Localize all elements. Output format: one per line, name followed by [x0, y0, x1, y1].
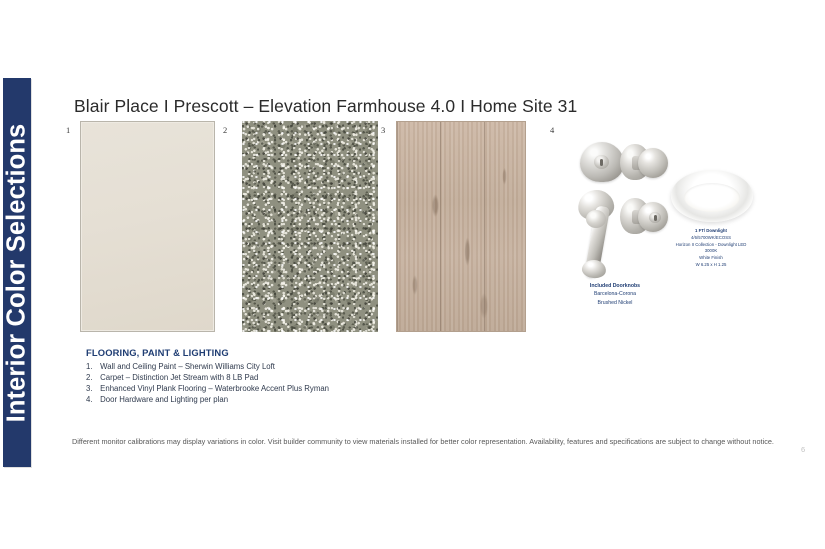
- list-item-index: 4.: [86, 394, 98, 405]
- downlight-caption-heading: 1 FT/ Downlight: [655, 228, 767, 235]
- downlight-caption-line-3: 3000K: [655, 248, 767, 255]
- upper-knob-ball-icon: [638, 148, 668, 178]
- downlight-lens-icon: [684, 183, 740, 212]
- handleset-knuckle-icon: [586, 210, 606, 228]
- doorknob-caption-heading: Included Doorknobs: [556, 282, 674, 290]
- led-downlight-image: [671, 170, 753, 222]
- swatch-number-2: 2: [223, 125, 227, 135]
- doorknob-caption: Included Doorknobs Barcelona-Corona Brus…: [556, 282, 674, 307]
- swatch-number-4: 4: [550, 125, 554, 135]
- list-item: 2. Carpet – Distinction Jet Stream with …: [86, 372, 506, 383]
- list-item-index: 2.: [86, 372, 98, 383]
- list-item-label: Door Hardware and Lighting per plan: [100, 395, 228, 404]
- downlight-caption-line-1: 4/6/5700WK/ECOSS: [655, 235, 767, 242]
- list-item: 3. Enhanced Vinyl Plank Flooring – Water…: [86, 383, 506, 394]
- list-item-label: Wall and Ceiling Paint – Sherwin William…: [100, 362, 275, 371]
- list-item: 4. Door Hardware and Lighting per plan: [86, 394, 506, 405]
- sidebar-banner: Interior Color Selections: [3, 78, 31, 467]
- handleset-foot-icon: [581, 259, 607, 279]
- deadbolt-keyway-icon: [600, 159, 603, 166]
- vinyl-plank-swatch: [396, 121, 526, 332]
- slide-canvas: Interior Color Selections Blair Place I …: [0, 0, 825, 549]
- list-item-index: 1.: [86, 361, 98, 372]
- lower-knob-keyway-icon: [654, 215, 657, 221]
- paint-swatch: [80, 121, 215, 332]
- door-hardware-image: [556, 128, 666, 273]
- doorknob-caption-line-1: Barcelona-Corona: [556, 290, 674, 298]
- swatch-number-1: 1: [66, 125, 70, 135]
- downlight-caption: 1 FT/ Downlight 4/6/5700WK/ECOSS Horizon…: [655, 228, 767, 269]
- page-title: Blair Place I Prescott – Elevation Farmh…: [74, 96, 577, 117]
- doorknob-caption-line-2: Brushed Nickel: [556, 299, 674, 307]
- list-item: 1. Wall and Ceiling Paint – Sherwin Will…: [86, 361, 506, 372]
- disclaimer-text: Different monitor calibrations may displ…: [72, 436, 784, 447]
- downlight-caption-line-5: W 6.25 x H 1.25: [655, 262, 767, 269]
- list-item-label: Carpet – Distinction Jet Stream with 8 L…: [100, 373, 258, 382]
- swatch-number-3: 3: [381, 125, 385, 135]
- specs-heading: FLOORING, PAINT & LIGHTING: [86, 347, 506, 358]
- sidebar-title: Interior Color Selections: [3, 123, 32, 422]
- list-item-index: 3.: [86, 383, 98, 394]
- list-item-label: Enhanced Vinyl Plank Flooring – Waterbro…: [100, 384, 329, 393]
- carpet-swatch: [242, 121, 378, 332]
- specs-block: FLOORING, PAINT & LIGHTING 1. Wall and C…: [86, 347, 506, 405]
- downlight-caption-line-2: Horizon II Collection - Downlight LED: [655, 242, 767, 249]
- page-number: 6: [801, 445, 805, 454]
- downlight-caption-line-4: White Finish: [655, 255, 767, 262]
- specs-list: 1. Wall and Ceiling Paint – Sherwin Will…: [86, 361, 506, 405]
